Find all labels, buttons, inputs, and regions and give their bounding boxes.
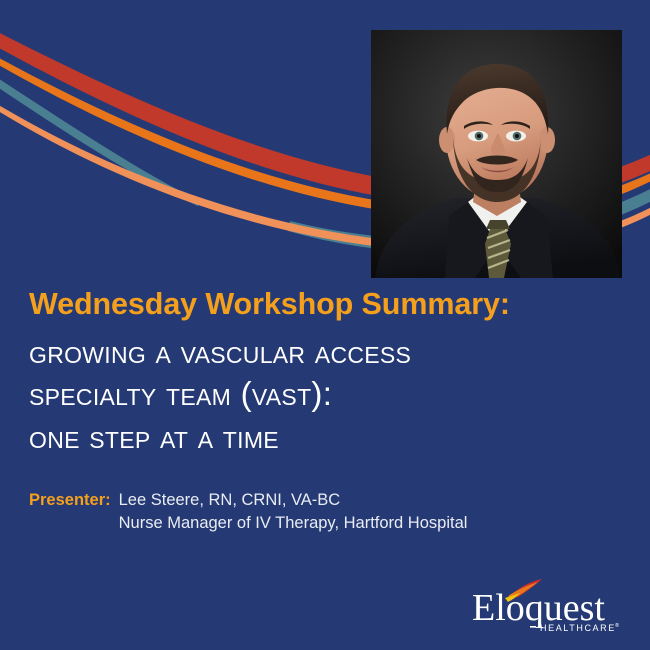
- title-line-1: Growing a Vascular Access: [29, 331, 629, 374]
- presenter-name: Lee Steere, RN, CRNI, VA-BC: [119, 489, 468, 512]
- presenter-label: Presenter:: [29, 489, 111, 512]
- presenter-role: Nurse Manager of IV Therapy, Hartford Ho…: [119, 512, 468, 535]
- presenter-block: Presenter: Lee Steere, RN, CRNI, VA-BC N…: [29, 489, 629, 536]
- logo-tagline: HEALTHCARE: [540, 623, 616, 633]
- logo-registered-mark: ®: [615, 622, 619, 629]
- headline-block: Wednesday Workshop Summary: Growing a Va…: [29, 289, 629, 459]
- title-line-2: Specialty Team (VAST):: [29, 373, 629, 416]
- presenter-names: Lee Steere, RN, CRNI, VA-BC Nurse Manage…: [119, 489, 468, 536]
- page-title: Growing a Vascular Access Specialty Team…: [29, 331, 629, 460]
- kicker-text: Wednesday Workshop Summary:: [29, 289, 629, 320]
- title-line-3: One Step at a Time: [29, 416, 629, 459]
- eloquest-logo: Eloquest HEALTHCARE ®: [472, 578, 624, 634]
- speaker-photo: [371, 30, 622, 278]
- ribbon-teal-left: [0, 73, 200, 206]
- presentation-slide: Wednesday Workshop Summary: Growing a Va…: [0, 0, 650, 650]
